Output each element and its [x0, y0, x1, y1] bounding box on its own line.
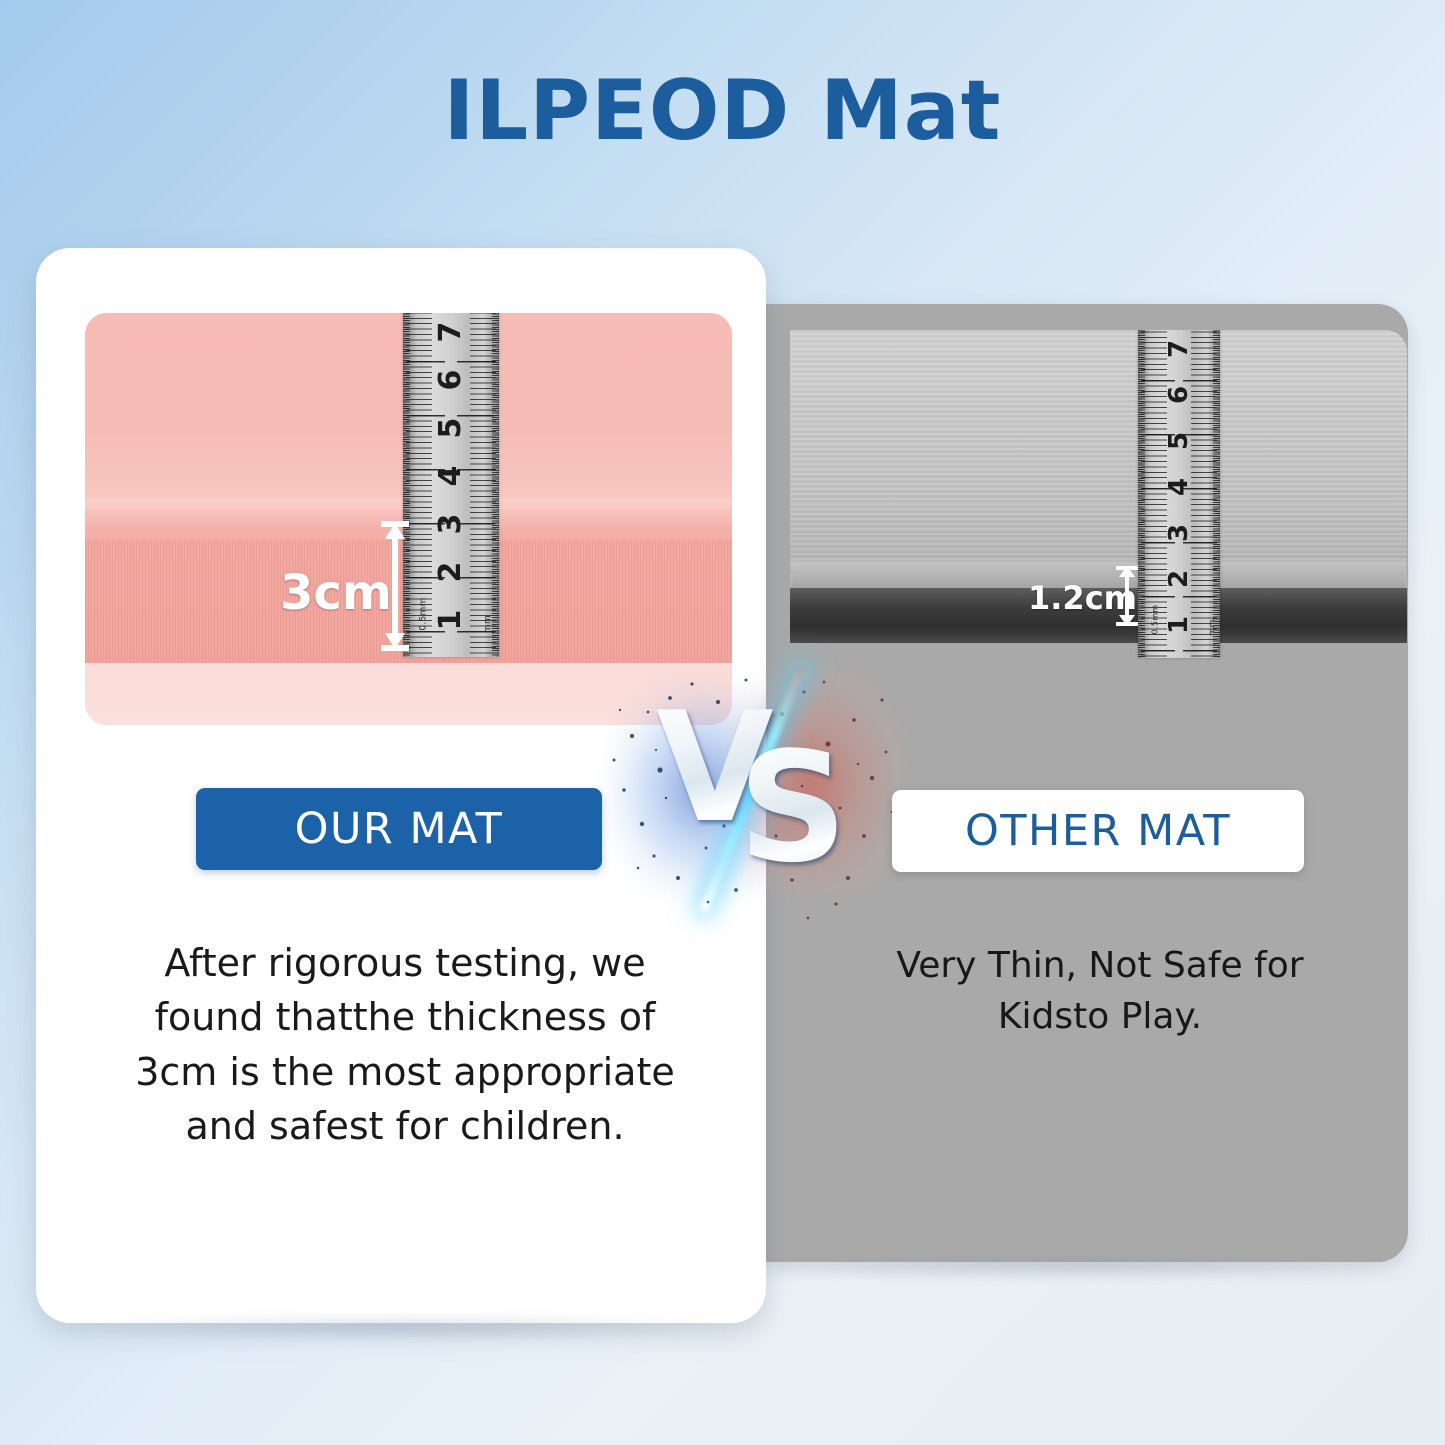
- ruler-number: 1: [1166, 616, 1192, 634]
- other-mat-button[interactable]: OTHER MAT: [892, 790, 1304, 872]
- ruler-number: 1: [436, 610, 466, 631]
- our-mat-floor: [85, 663, 732, 725]
- infographic-canvas: ILPEOD Mat 7 6 5 4 3 2 1 0.5mm mm 1: [0, 0, 1445, 1445]
- ruler-number: 6: [436, 370, 466, 391]
- other-mat-ruler: 7 6 5 4 3 2 1 0.5mm mm: [1138, 330, 1220, 658]
- ruler-caption-right: mm: [1207, 619, 1216, 635]
- other-mat-photo: 7 6 5 4 3 2 1 0.5mm mm 1.2cm: [790, 330, 1407, 670]
- ruler-caption-right: mm: [483, 615, 493, 633]
- ruler-number: 4: [436, 466, 466, 487]
- other-mat-floor: [790, 643, 1407, 670]
- ruler-number: 7: [436, 322, 466, 343]
- ruler-number: 7: [1166, 340, 1192, 358]
- other-mat-description: Very Thin, Not Safe for Kidsto Play.: [880, 940, 1320, 1043]
- ruler-number: 5: [436, 418, 466, 439]
- ruler-number: 2: [436, 562, 466, 583]
- ruler-number: 5: [1166, 432, 1192, 450]
- ruler-caption-left: 0.5mm: [1150, 605, 1159, 635]
- ruler-number: 6: [1166, 386, 1192, 404]
- our-mat-thickness-arrow: [381, 521, 409, 655]
- our-mat-card-shadow: [70, 1318, 730, 1340]
- ruler-number: 4: [1166, 478, 1192, 496]
- ruler-caption-left: 0.5mm: [419, 597, 429, 630]
- other-mat-thickness-arrow: [1116, 566, 1138, 630]
- ruler-number: 3: [436, 514, 466, 535]
- our-mat-photo: 7 6 5 4 3 2 1 0.5mm mm 3cm: [85, 313, 732, 725]
- ruler-number: 2: [1166, 570, 1192, 588]
- our-mat-ruler: 7 6 5 4 3 2 1 0.5mm mm: [403, 313, 499, 657]
- our-mat-thickness-label: 3cm: [280, 565, 392, 621]
- our-mat-description: After rigorous testing, we found thatthe…: [120, 936, 690, 1153]
- other-mat-card-shadow: [760, 1258, 1390, 1278]
- our-mat-button[interactable]: OUR MAT: [196, 788, 602, 870]
- other-mat-surface: [790, 330, 1407, 575]
- ruler-number: 3: [1166, 524, 1192, 542]
- page-title: ILPEOD Mat: [0, 62, 1445, 159]
